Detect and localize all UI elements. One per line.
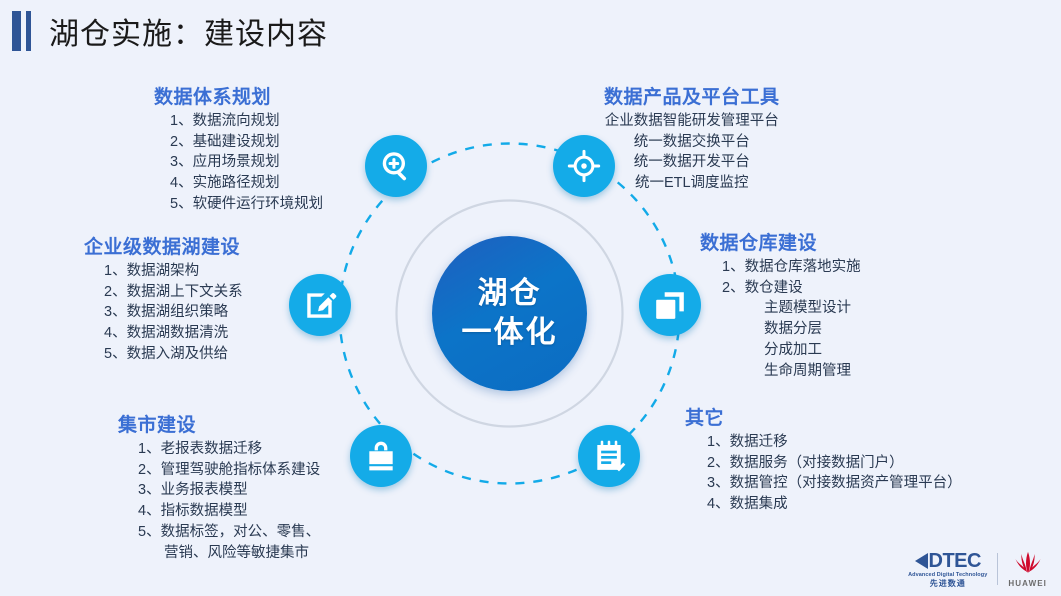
node-copy-layers[interactable] xyxy=(639,274,701,336)
list-item: 4、指标数据模型 xyxy=(138,501,320,522)
list-item: 2、数仓建设 xyxy=(722,278,861,299)
copy-layers-icon xyxy=(653,288,687,322)
block-top-left-heading: 数据体系规划 xyxy=(154,82,323,109)
list-item: 3、数据湖组织策略 xyxy=(104,302,243,323)
list-sub-item: 主题模型设计 xyxy=(722,298,861,319)
node-magnifier-plus[interactable] xyxy=(365,135,427,197)
notepad-check-icon xyxy=(592,439,626,473)
center-circle: 湖仓 一体化 xyxy=(432,236,587,391)
list-item: 1、数据湖架构 xyxy=(104,261,243,282)
target-crosshair-icon xyxy=(567,149,601,183)
block-top-right-heading: 数据产品及平台工具 xyxy=(604,82,780,109)
node-target-crosshair[interactable] xyxy=(553,135,615,197)
list-item: 1、数据仓库落地实施 xyxy=(722,257,861,278)
list-item: 3、业务报表模型 xyxy=(138,480,320,501)
magnifier-plus-icon xyxy=(379,149,413,183)
list-item: 5、数据入湖及供给 xyxy=(104,344,243,365)
list-item: 2、基础建设规划 xyxy=(170,132,323,153)
list-item-continuation: 营销、风险等敏捷集市 xyxy=(138,543,320,564)
block-top-right-list: 企业数据智能研发管理平台 统一数据交换平台 统一数据开发平台 统一ETL调度监控 xyxy=(604,111,780,194)
list-item: 4、数据集成 xyxy=(707,494,962,515)
block-mid-right-heading: 数据仓库建设 xyxy=(700,228,861,255)
block-bot-left-list: 1、老报表数据迁移 2、管理驾驶舱指标体系建设 3、业务报表模型 4、指标数据模… xyxy=(118,439,320,563)
dtec-logo-top: DTEC xyxy=(915,551,981,571)
huawei-flower-icon xyxy=(1010,551,1046,577)
shopping-bag-icon xyxy=(364,439,398,473)
list-item: 3、数据管控（对接数据资产管理平台） xyxy=(707,473,962,494)
dtec-chinese-name: 先进数通 xyxy=(930,580,966,588)
dtec-wordmark: DTEC xyxy=(929,551,981,571)
center-label-line1: 湖仓 xyxy=(478,275,542,313)
list-item: 5、数据标签，对公、零售、 xyxy=(138,522,320,543)
block-top-left: 数据体系规划 1、数据流向规划 2、基础建设规划 3、应用场景规划 4、实施路径… xyxy=(150,82,323,215)
node-notepad-check[interactable] xyxy=(578,425,640,487)
edit-pencil-icon xyxy=(303,288,337,322)
block-mid-left: 企业级数据湖建设 1、数据湖架构 2、数据湖上下文关系 3、数据湖组织策略 4、… xyxy=(84,232,243,365)
list-item: 统一ETL调度监控 xyxy=(604,173,780,194)
block-mid-right: 数据仓库建设 1、数据仓库落地实施 2、数仓建设 主题模型设计 数据分层 分成加… xyxy=(700,228,861,381)
list-item: 1、数据流向规划 xyxy=(170,111,323,132)
footer-logos: DTEC Advanced Digital Technology 先进数通 HU… xyxy=(908,551,1047,589)
list-item: 1、老报表数据迁移 xyxy=(138,439,320,460)
block-bot-right-heading: 其它 xyxy=(685,403,962,430)
list-sub-item: 生命周期管理 xyxy=(722,361,861,382)
list-sub-item: 分成加工 xyxy=(722,340,861,361)
node-edit-pencil[interactable] xyxy=(289,274,351,336)
block-bot-right-list: 1、数据迁移 2、数据服务（对接数据门户） 3、数据管控（对接数据资产管理平台）… xyxy=(685,432,962,515)
list-item: 4、实施路径规划 xyxy=(170,173,323,194)
list-sub-item: 数据分层 xyxy=(722,319,861,340)
logo-divider xyxy=(997,553,998,585)
list-item: 企业数据智能研发管理平台 xyxy=(604,111,780,132)
list-item: 5、软硬件运行环境规划 xyxy=(170,194,323,215)
list-item: 1、数据迁移 xyxy=(707,432,962,453)
block-top-right: 数据产品及平台工具 企业数据智能研发管理平台 统一数据交换平台 统一数据开发平台… xyxy=(604,82,780,194)
list-item: 统一数据开发平台 xyxy=(604,152,780,173)
block-mid-left-heading: 企业级数据湖建设 xyxy=(84,232,243,259)
dtec-logo: DTEC Advanced Digital Technology 先进数通 xyxy=(908,551,987,589)
list-item: 3、应用场景规划 xyxy=(170,152,323,173)
diagram-stage: 湖仓 一体化 xyxy=(0,0,1061,596)
block-bot-left-heading: 集市建设 xyxy=(118,410,320,437)
block-bot-left: 集市建设 1、老报表数据迁移 2、管理驾驶舱指标体系建设 3、业务报表模型 4、… xyxy=(118,410,320,563)
block-bot-right: 其它 1、数据迁移 2、数据服务（对接数据门户） 3、数据管控（对接数据资产管理… xyxy=(685,403,962,515)
dtec-arrow-icon xyxy=(915,553,928,569)
block-top-left-list: 1、数据流向规划 2、基础建设规划 3、应用场景规划 4、实施路径规划 5、软硬… xyxy=(150,111,323,215)
huawei-wordmark: HUAWEI xyxy=(1008,579,1047,588)
center-label-line2: 一体化 xyxy=(462,314,558,352)
block-mid-right-list: 1、数据仓库落地实施 2、数仓建设 主题模型设计 数据分层 分成加工 生命周期管… xyxy=(700,257,861,381)
block-mid-left-list: 1、数据湖架构 2、数据湖上下文关系 3、数据湖组织策略 4、数据湖数据清洗 5… xyxy=(84,261,243,365)
list-item: 2、数据湖上下文关系 xyxy=(104,282,243,303)
huawei-logo: HUAWEI xyxy=(1008,551,1047,588)
node-shopping-bag[interactable] xyxy=(350,425,412,487)
list-item: 4、数据湖数据清洗 xyxy=(104,323,243,344)
list-item: 统一数据交换平台 xyxy=(604,132,780,153)
list-item: 2、数据服务（对接数据门户） xyxy=(707,453,962,474)
dtec-tagline: Advanced Digital Technology xyxy=(908,573,987,579)
list-item: 2、管理驾驶舱指标体系建设 xyxy=(138,460,320,481)
